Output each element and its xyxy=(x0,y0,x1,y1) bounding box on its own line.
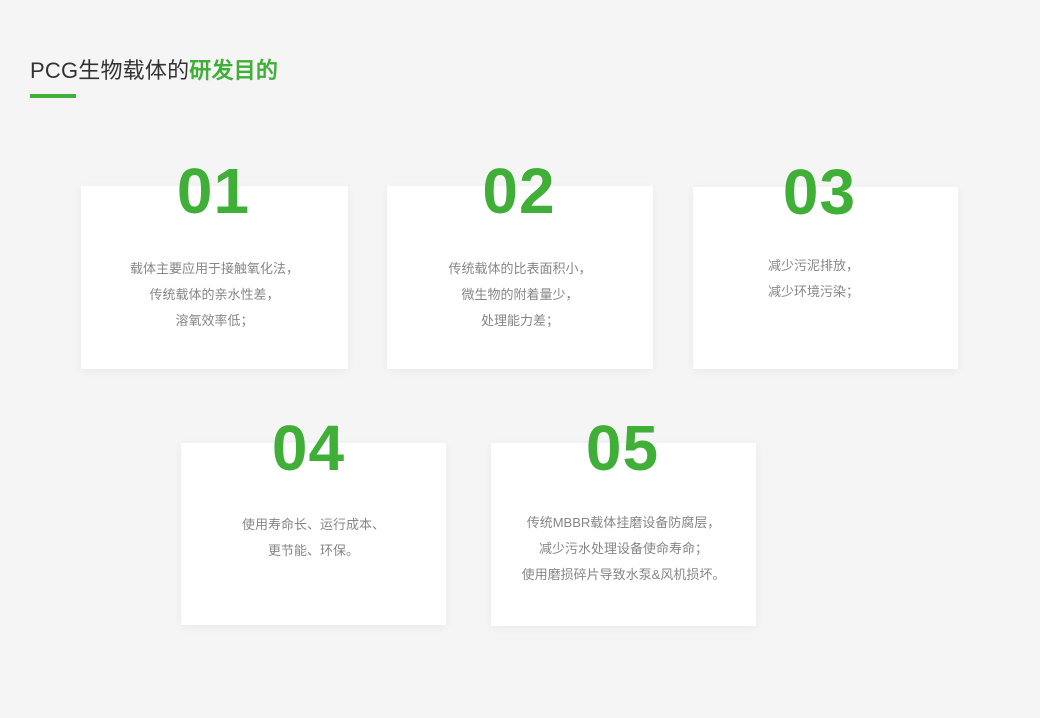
card-text-line: 减少污水处理设备使命寿命； xyxy=(505,536,742,562)
card-text-line: 传统载体的亲水性差， xyxy=(95,282,334,308)
card-text-05: 传统MBBR载体挂磨设备防腐层， 减少污水处理设备使命寿命； 使用磨损碎片导致水… xyxy=(491,510,756,588)
card-number-02: 02 xyxy=(386,156,652,226)
info-card-01: 01 载体主要应用于接触氧化法， 传统载体的亲水性差， 溶氧效率低； xyxy=(81,186,348,369)
card-text-01: 载体主要应用于接触氧化法， 传统载体的亲水性差， 溶氧效率低； xyxy=(81,256,348,334)
card-text-line: 溶氧效率低； xyxy=(95,308,334,334)
card-number-04: 04 xyxy=(176,413,441,483)
card-text-line: 减少环境污染； xyxy=(768,279,944,305)
page-title-block: PCG生物载体的研发目的 xyxy=(30,55,278,98)
page-title-accent: 研发目的 xyxy=(189,58,278,83)
card-text-02: 传统载体的比表面积小， 微生物的附着量少， 处理能力差； xyxy=(387,256,653,334)
card-text-line: 微生物的附着量少， xyxy=(401,282,639,308)
title-underline-rule xyxy=(30,94,76,98)
card-number-05: 05 xyxy=(490,413,755,483)
info-card-03: 03 减少污泥排放， 减少环境污染； xyxy=(693,187,958,369)
slide-canvas: PCG生物载体的研发目的 01 载体主要应用于接触氧化法， 传统载体的亲水性差，… xyxy=(0,0,1040,718)
info-card-04: 04 使用寿命长、运行成本、 更节能、环保。 xyxy=(181,443,446,625)
card-text-04: 使用寿命长、运行成本、 更节能、环保。 xyxy=(181,512,446,564)
card-text-line: 使用磨损碎片导致水泵&风机损坏。 xyxy=(505,562,742,588)
card-text-line: 减少污泥排放， xyxy=(768,253,944,279)
info-card-02: 02 传统载体的比表面积小， 微生物的附着量少， 处理能力差； xyxy=(387,186,653,369)
page-title: PCG生物载体的研发目的 xyxy=(30,55,278,87)
card-text-03: 减少污泥排放， 减少环境污染； xyxy=(693,253,958,305)
card-text-line: 使用寿命长、运行成本、 xyxy=(195,512,432,538)
card-text-line: 载体主要应用于接触氧化法， xyxy=(95,256,334,282)
info-card-05: 05 传统MBBR载体挂磨设备防腐层， 减少污水处理设备使命寿命； 使用磨损碎片… xyxy=(491,443,756,626)
card-text-line: 传统MBBR载体挂磨设备防腐层， xyxy=(505,510,742,536)
card-text-line: 处理能力差； xyxy=(401,308,639,334)
card-text-line: 更节能、环保。 xyxy=(195,538,432,564)
card-number-01: 01 xyxy=(80,156,347,226)
card-text-line: 传统载体的比表面积小， xyxy=(401,256,639,282)
card-number-03: 03 xyxy=(687,157,952,227)
page-title-plain: PCG生物载体的 xyxy=(30,58,189,83)
